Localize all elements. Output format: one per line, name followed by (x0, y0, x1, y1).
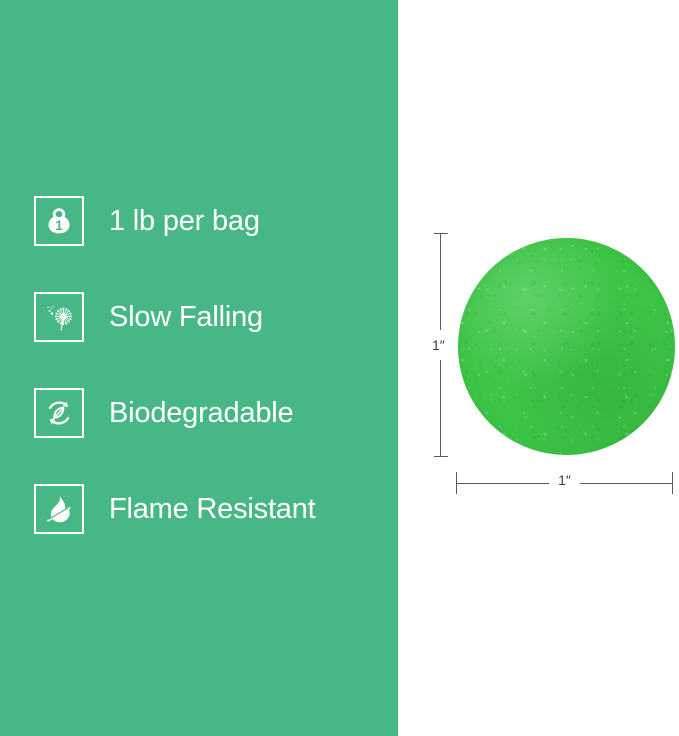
ruler-cap-bottom (434, 456, 448, 457)
feature-item-biodegradable: Biodegradable (34, 388, 293, 438)
confetti-texture-overlay (458, 238, 675, 455)
kettlebell-icon: 1 (34, 196, 84, 246)
feature-item-slow-falling: Slow Falling (34, 292, 263, 342)
dandelion-icon (34, 292, 84, 342)
feature-item-flame-resistant: Flame Resistant (34, 484, 316, 534)
dimension-panel: 1″ 1″ (398, 0, 679, 736)
no-flame-icon (34, 484, 84, 534)
ruler-stem-right (580, 483, 672, 484)
feature-label-weight: 1 lb per bag (109, 207, 260, 236)
horizontal-dimension-ruler: 1″ (456, 472, 673, 494)
features-panel: 1 1 lb per bag (0, 0, 398, 736)
confetti-swatch (458, 238, 675, 455)
vertical-dimension-label: 1″ (432, 338, 445, 352)
feature-item-weight: 1 1 lb per bag (34, 196, 260, 246)
recycle-leaf-icon (34, 388, 84, 438)
ruler-stem-lower (440, 360, 441, 456)
ruler-stem-left (457, 483, 549, 484)
ruler-cap-right (672, 472, 673, 494)
feature-label-slow-falling: Slow Falling (109, 303, 263, 332)
ruler-cap-top (434, 233, 448, 234)
ruler-stem-upper (440, 234, 441, 330)
horizontal-dimension-label: 1″ (554, 473, 575, 487)
svg-text:1: 1 (55, 218, 63, 233)
feature-label-biodegradable: Biodegradable (109, 399, 293, 428)
feature-label-flame-resistant: Flame Resistant (109, 495, 316, 524)
vertical-dimension-ruler: 1″ (434, 232, 448, 458)
product-feature-infographic: 1 1 lb per bag (0, 0, 679, 736)
